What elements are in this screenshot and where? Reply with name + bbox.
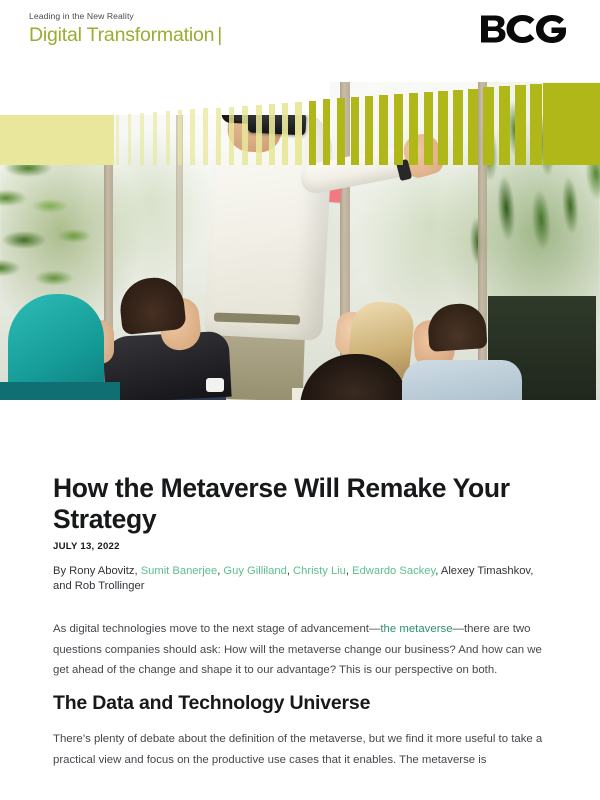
- author-name: Rony Abovitz: [69, 565, 134, 577]
- series-brand[interactable]: Leading in the New Reality Digital Trans…: [29, 11, 222, 47]
- body-paragraph: There’s plenty of debate about the defin…: [53, 729, 551, 770]
- potted-plant: [450, 83, 600, 324]
- author-link[interactable]: Christy Liu: [293, 565, 346, 577]
- series-title-divider: |: [214, 24, 222, 46]
- section-heading: The Data and Technology Universe: [53, 691, 553, 716]
- hero-photo-image: [0, 82, 600, 400]
- person-blueshirt-torso: [402, 360, 522, 400]
- byline: By Rony Abovitz, Sumit Banerjee, Guy Gil…: [53, 564, 553, 594]
- banner-white-cap: [0, 82, 330, 115]
- author-link[interactable]: Sumit Banerjee: [141, 565, 218, 577]
- metaverse-link[interactable]: the metaverse: [380, 623, 452, 635]
- publish-date: JULY 13, 2022: [53, 541, 120, 552]
- page-title: How the Metaverse Will Remake Your Strat…: [53, 473, 553, 535]
- hero-photo: [0, 82, 600, 400]
- series-title: Digital Transformation|: [29, 23, 222, 47]
- series-kicker: Leading in the New Reality: [29, 11, 222, 22]
- lede-paragraph: As digital technologies move to the next…: [53, 619, 547, 681]
- masthead: Leading in the New Reality Digital Trans…: [0, 0, 600, 82]
- article-page: Leading in the New Reality Digital Trans…: [0, 0, 600, 800]
- author-link[interactable]: Guy Gilliland: [223, 565, 286, 577]
- person-suit-cuff: [206, 378, 224, 392]
- bcg-logo[interactable]: [480, 12, 572, 46]
- author-name: Rob Trollinger: [75, 580, 145, 592]
- series-title-text: Digital Transformation: [29, 24, 214, 46]
- person-headscarf-shoulder: [0, 382, 120, 400]
- foliage-left: [0, 106, 106, 306]
- author-link[interactable]: Edwardo Sackey: [352, 565, 435, 577]
- author-name: Alexey Timashkov: [441, 565, 530, 577]
